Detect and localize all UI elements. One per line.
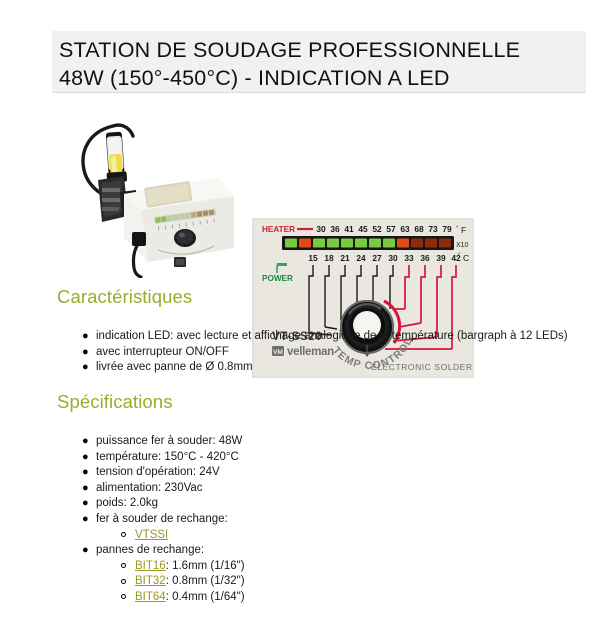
svg-text:30: 30 [316, 224, 326, 234]
list-item: ● avec interrupteur ON/OFF [96, 345, 568, 361]
soldering-station-photo [58, 110, 246, 278]
list-item-label: pannes de rechange: [96, 544, 204, 556]
svg-text:15: 15 [308, 253, 318, 263]
list-item-label: avec interrupteur ON/OFF [96, 346, 229, 358]
page-title: STATION DE SOUDAGE PROFESSIONNELLE 48W (… [59, 36, 589, 92]
list-item-label: poids: 2.0kg [96, 497, 158, 509]
sub-list-item-detail: : 1.6mm (1/16") [166, 560, 245, 572]
list-item-label: température: 150°C - 420°C [96, 451, 239, 463]
heater-label: HEATER [262, 225, 295, 234]
list-item: ● poids: 2.0kg [96, 496, 245, 512]
svg-text:39: 39 [436, 253, 446, 263]
list-item-label: puissance fer à souder: 48W [96, 435, 242, 447]
svg-text:68: 68 [414, 224, 424, 234]
circle-bullet-icon [121, 579, 126, 584]
bullet-icon: ● [82, 496, 89, 512]
circle-bullet-icon [121, 594, 126, 599]
svg-text:52: 52 [372, 224, 382, 234]
svg-text:18: 18 [324, 253, 334, 263]
list-item: ● livrée avec panne de Ø 0.8mm [96, 360, 568, 376]
fahrenheit-unit-label: F [461, 225, 466, 235]
list-item: ● indication LED: avec lecture et affich… [96, 329, 568, 345]
bullet-icon: ● [82, 543, 89, 559]
svg-text:33: 33 [404, 253, 414, 263]
svg-text:45: 45 [358, 224, 368, 234]
svg-text:79: 79 [442, 224, 452, 234]
bullet-icon: ● [82, 481, 89, 497]
bullet-icon: ● [82, 465, 89, 481]
list-item: ● fer à souder de rechange: VTSSI [96, 512, 245, 543]
list-item: ● alimentation: 230Vac [96, 481, 245, 497]
list-item-label: tension d'opération: 24V [96, 466, 220, 478]
svg-text:30: 30 [388, 253, 398, 263]
product-link-bit64[interactable]: BIT64 [135, 591, 166, 603]
bullet-icon: ● [82, 512, 89, 528]
specifications-list: ● puissance fer à souder: 48W ● températ… [78, 434, 245, 606]
power-label: POWER [262, 274, 293, 283]
power-led [277, 263, 287, 266]
bullet-icon: ● [82, 329, 89, 345]
caracteristiques-list: ● indication LED: avec lecture et affich… [78, 329, 568, 376]
sub-list-item-detail: : 0.8mm (1/32") [166, 575, 245, 587]
bullet-icon: ● [82, 345, 89, 361]
svg-text:21: 21 [340, 253, 350, 263]
bullet-icon: ● [82, 360, 89, 376]
sub-list-item: BIT64: 0.4mm (1/64") [135, 590, 245, 606]
svg-text:24: 24 [356, 253, 366, 263]
list-item-label: alimentation: 230Vac [96, 482, 203, 494]
list-item-label: livrée avec panne de Ø 0.8mm [96, 361, 253, 373]
svg-text:73: 73 [428, 224, 438, 234]
bullet-icon: ● [82, 450, 89, 466]
soldering-station-illustration [58, 110, 246, 278]
product-images-row: HEATER 3036 4145 5257 6368 7379 ° F [0, 108, 610, 280]
list-item: ● pannes de rechange: BIT16: 1.6mm (1/16… [96, 543, 245, 605]
svg-text:41: 41 [344, 224, 354, 234]
section-heading-caracteristiques: Caractéristiques [57, 286, 192, 308]
list-item: ● tension d'opération: 24V [96, 465, 245, 481]
sub-list-item: VTSSI [135, 528, 245, 544]
product-link-vtssi[interactable]: VTSSI [135, 529, 168, 541]
svg-text:36: 36 [420, 253, 430, 263]
product-page: STATION DE SOUDAGE PROFESSIONNELLE 48W (… [0, 0, 610, 620]
spare-tips-sublist: BIT16: 1.6mm (1/16") BIT32: 0.8mm (1/32"… [96, 559, 245, 606]
bullet-icon: ● [82, 434, 89, 450]
list-item-label: indication LED: avec lecture et affichag… [96, 330, 568, 342]
sub-list-item: BIT32: 0.8mm (1/32") [135, 574, 245, 590]
sub-list-item-detail: : 0.4mm (1/64") [166, 591, 245, 603]
product-link-bit16[interactable]: BIT16 [135, 560, 166, 572]
product-link-bit32[interactable]: BIT32 [135, 575, 166, 587]
multiplier-label: X10 [456, 242, 469, 249]
svg-text:27: 27 [372, 253, 382, 263]
section-heading-specifications: Spécifications [57, 391, 173, 413]
sub-list-item: BIT16: 1.6mm (1/16") [135, 559, 245, 575]
list-item-label: fer à souder de rechange: [96, 513, 228, 525]
svg-text:57: 57 [386, 224, 396, 234]
svg-text:63: 63 [400, 224, 410, 234]
spare-iron-sublist: VTSSI [96, 528, 245, 544]
circle-bullet-icon [121, 532, 126, 537]
list-item: ● température: 150°C - 420°C [96, 450, 245, 466]
svg-text:36: 36 [330, 224, 340, 234]
list-item: ● puissance fer à souder: 48W [96, 434, 245, 450]
celsius-unit-label: C [463, 253, 469, 263]
circle-bullet-icon [121, 563, 126, 568]
